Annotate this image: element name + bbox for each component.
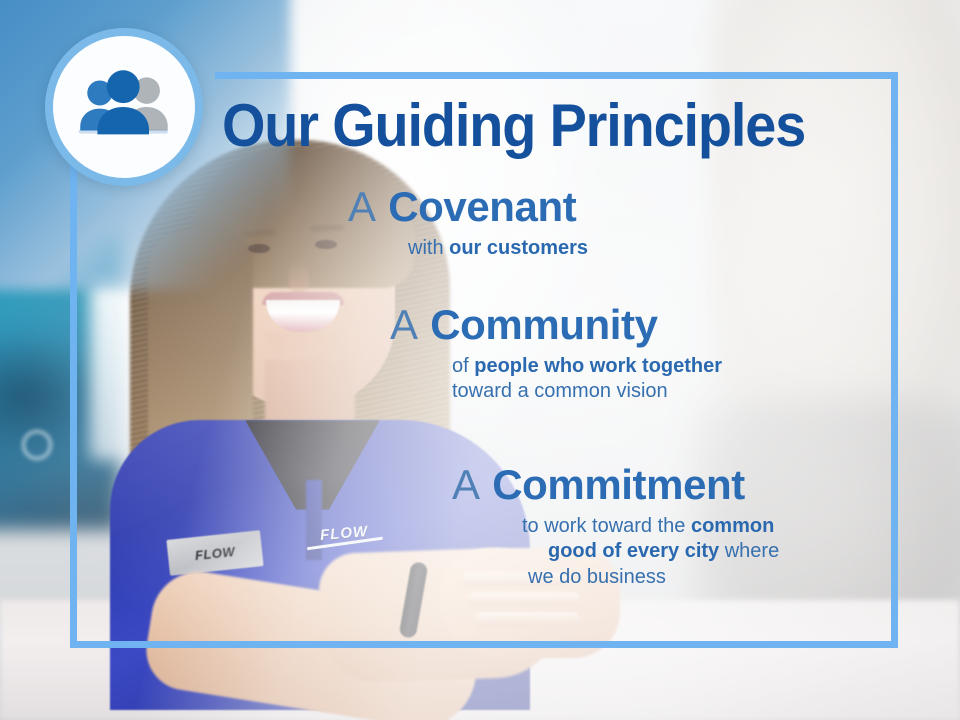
principle-heading: A Covenant <box>348 186 588 229</box>
principle-subtext: of people who work together toward a com… <box>452 354 722 405</box>
principle-subtext: with our customers <box>408 236 588 262</box>
subtext-bold: good of every city <box>548 540 719 562</box>
text-content: Our Guiding Principles A Covenant with o… <box>0 0 960 720</box>
subtext-line: good of every city where <box>548 539 779 565</box>
principle-article: A <box>390 301 419 348</box>
principle-commitment: A Commitment to work toward the common g… <box>452 464 779 591</box>
subtext-line: to work toward the common <box>522 514 779 540</box>
principle-covenant: A Covenant with our customers <box>348 186 588 261</box>
page-title: Our Guiding Principles <box>222 96 836 156</box>
principle-word: Covenant <box>388 183 576 230</box>
principle-article: A <box>348 183 377 230</box>
principle-heading: A Community <box>390 304 722 347</box>
principle-word: Community <box>430 301 657 348</box>
guiding-principles-graphic: FLOW FLOW <box>0 0 960 720</box>
principle-word: Commitment <box>492 461 745 508</box>
subtext-plain: we do business <box>528 566 666 588</box>
subtext-bold: our customers <box>449 237 588 259</box>
subtext-plain: of <box>452 355 474 377</box>
subtext-plain: to work toward the <box>522 515 691 537</box>
principle-community: A Community of people who work together … <box>390 304 722 405</box>
subtext-plain: with <box>408 237 449 259</box>
principle-article: A <box>452 461 481 508</box>
subtext-line: toward a common vision <box>452 379 722 405</box>
subtext-bold: common <box>691 515 774 537</box>
subtext-bold: people who work together <box>474 355 722 377</box>
principle-heading: A Commitment <box>452 464 779 507</box>
subtext-plain-after: where <box>719 540 779 562</box>
subtext-line: of people who work together <box>452 354 722 380</box>
principle-subtext: to work toward the common good of every … <box>522 514 779 591</box>
subtext-plain: toward a common vision <box>452 380 668 402</box>
subtext-line: we do business <box>528 565 779 591</box>
